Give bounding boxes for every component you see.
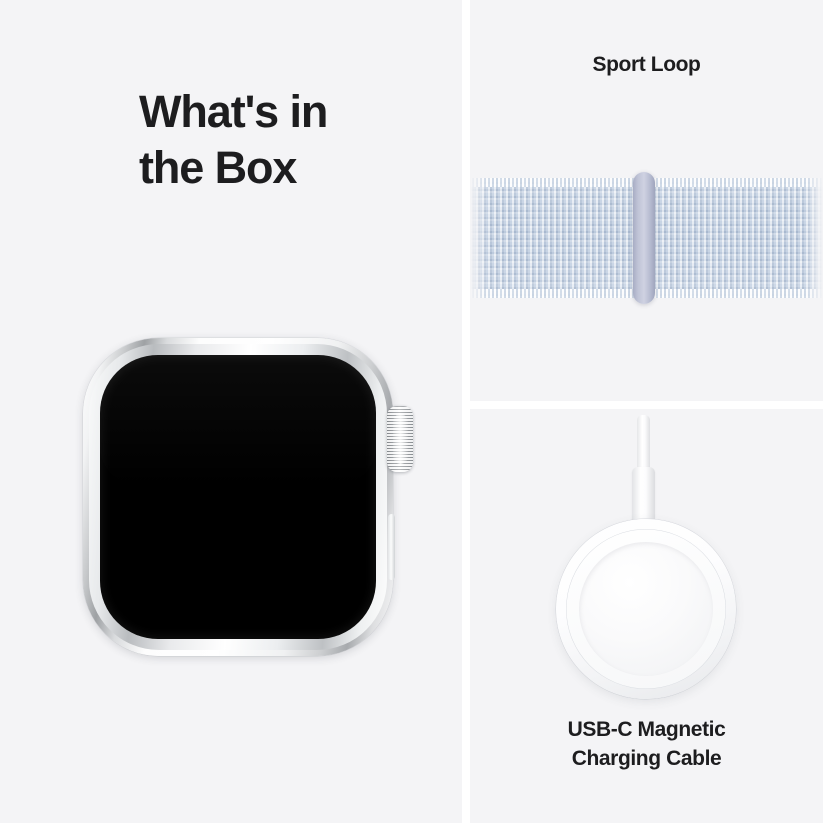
cable-caption-line-2: Charging Cable	[470, 744, 823, 773]
sport-loop-band-image	[470, 178, 823, 298]
watch-side-button	[388, 514, 395, 580]
divider-horizontal	[462, 401, 823, 409]
apple-watch-product-image	[83, 338, 393, 656]
headline-line-1: What's in	[139, 84, 429, 140]
headline-line-2: the Box	[139, 140, 429, 196]
product-image-grid: What's in the Box Sport Loop	[0, 0, 823, 823]
cable-caption-line-1: USB-C Magnetic	[470, 715, 823, 744]
watch-display	[100, 355, 376, 639]
panel-sport-loop: Sport Loop	[470, 0, 823, 401]
page-title: What's in the Box	[139, 84, 429, 196]
charging-cable-caption: USB-C Magnetic Charging Cable	[470, 715, 823, 773]
band-fade-left	[470, 178, 488, 298]
digital-crown-highlight	[393, 414, 408, 464]
band-loop-keeper	[633, 172, 655, 304]
band-fade-right	[805, 178, 823, 298]
panel-charging-cable: USB-C Magnetic Charging Cable	[470, 409, 823, 823]
charging-puck-face	[579, 542, 713, 676]
panel-watch: What's in the Box	[0, 0, 462, 823]
sport-loop-caption: Sport Loop	[470, 53, 823, 77]
divider-vertical	[462, 0, 470, 823]
